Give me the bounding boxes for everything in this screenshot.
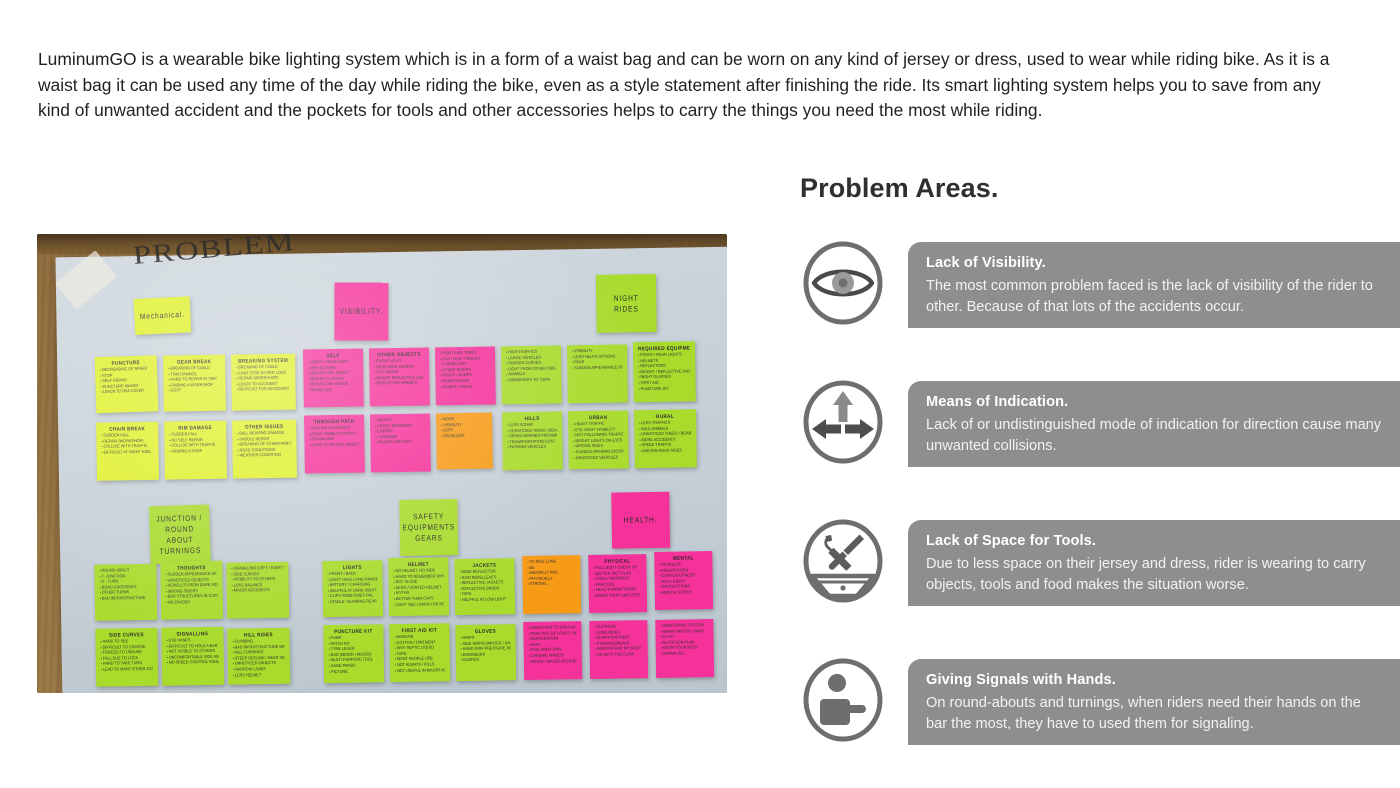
problem-card: Means of Indication. Lack of or undistin…	[908, 381, 1400, 467]
sticky-note-item: LESS HELMET	[233, 672, 285, 679]
sticky-note: MOREVISIBILITYLESSPROBLEMS	[436, 413, 493, 470]
sticky-note-item: GUARDS	[461, 657, 511, 664]
sticky-note: PHYSICALFULL BODY CHECK UPBETTER DIET PL…	[588, 554, 647, 613]
problem-card-title: Giving Signals with Hands.	[926, 672, 1382, 688]
sticky-note-title: JUNCTION /ROUND ABOUTTURNINGS	[154, 513, 205, 558]
sticky-note-item: PROBLEMS	[441, 433, 487, 440]
sticky-note: GEAR BREAKBREAKING OF CABLETHIN DAMAGEHA…	[163, 355, 226, 412]
sticky-note: TO RIDE LONGBEMENTALLY ANDPHYSICALLYSTRO…	[522, 555, 581, 614]
sticky-note-item: REFLECTIVE WHEELS	[374, 381, 424, 388]
sticky-note-item: MINOR / MAJOR ACCIDENTS	[529, 658, 577, 665]
sticky-note: URBANHEAVY TRAFFICEYE SIGHT VISIBILITYNO…	[568, 410, 629, 469]
sticky-note: HILLSLESS SCRAPSCRATCHED SIGNS / BOARDSS…	[502, 411, 563, 470]
sticky-note: KNOW HOW TO UNLOADPRACTICE OF LOADS / WE…	[523, 621, 582, 680]
affinity-wall-photo: Mechanical.VISIBILITY.NIGHT RIDESJUNCTIO…	[37, 234, 727, 693]
sticky-note-header: THROUGH PATH	[309, 418, 359, 425]
sticky-note: VISIBILITYLESS HELPS OPTIONSFEARSUDDEN A…	[567, 344, 628, 403]
sticky-note: SIDE CURVESHARD TO SEEDIFFICULT TO CHOOS…	[95, 628, 158, 687]
problem-item-tools: Lack of Space for Tools. Due to less spa…	[800, 516, 1400, 612]
sticky-note-header: GLOVES	[460, 628, 510, 635]
sticky-note-header: SELF	[308, 352, 358, 359]
sticky-note-header: GEAR BREAK	[168, 358, 220, 365]
sticky-note-item: FALLING WITHOUT	[375, 440, 425, 447]
sticky-note: THROUGH PATHSUDDEN ACCIDENTSROAD VISIBIL…	[304, 415, 365, 474]
sticky-note-header: SIDE CURVES	[100, 631, 152, 638]
sticky-note: MONITORING SYSTEMSMART WATCH / BANDEX KI…	[655, 619, 714, 678]
sticky-note: LIGHTSFRONT / BACKDON'T HAVE LONG RANGEB…	[322, 560, 383, 617]
masking-tape	[55, 250, 117, 309]
sticky-note-header: LIGHTS	[327, 564, 377, 571]
sticky-note-item: NOT USEFUL IN MAJOR ACCIDENT	[395, 668, 445, 675]
sticky-note-header: OTHER ISSUES	[237, 423, 291, 430]
problem-card: Lack of Space for Tools. Due to less spa…	[908, 520, 1400, 606]
sticky-note-header: PHYSICAL	[593, 558, 641, 565]
sticky-note: HIGH TRAFFICSLARGE VEHICLESSUDDEN CURVES…	[501, 345, 562, 404]
problem-item-hand-signals: Giving Signals with Hands. On round-abou…	[800, 655, 1400, 751]
sticky-note-header: HILL RIDES	[232, 631, 284, 638]
sticky-note-item: PICTURE	[329, 669, 379, 676]
sticky-note-header: BREAKING SYSTEM	[236, 357, 290, 364]
sticky-note-item: NO DIVIDER	[166, 600, 218, 607]
sticky-note-item: COST	[169, 388, 221, 395]
sticky-note: SELFFRONT / REAR LIGHTREFLECTORSREFLECTI…	[303, 349, 364, 408]
sticky-note: SIGNALLINGUSE HANDSDIFFICULT TO HOLD A B…	[161, 627, 224, 686]
sticky-note-item: STRONG...	[528, 581, 576, 588]
sticky-note-item: GO WITH THE FLOW	[595, 652, 643, 659]
sticky-note: HELMETNO HELMET, NO RIDEHARD TO REMEMBER…	[388, 557, 449, 616]
sticky-note-item: LEADS TO RIM COVER	[101, 388, 153, 396]
sticky-note-item: FINDING A SHOP	[170, 448, 222, 455]
sticky-note: FIRST AID KITBANDAIDCOTTON / OINTMENTANT…	[389, 623, 450, 682]
sticky-note-header: OTHER OBJECTS	[374, 351, 424, 358]
intro-paragraph: LuminumGO is a wearable bike lighting sy…	[38, 47, 1348, 124]
sticky-note-item: UNNOTICED VEHICLES	[574, 455, 624, 462]
sticky-note: PUNCTUREDECREASING OF SPEEDSTOPSELF REPA…	[95, 355, 159, 413]
sticky-note-header: REQUIRED EQUIPMENTS	[638, 345, 690, 352]
sticky-note-item: NO SPEED CONTROL SIGNALLING	[167, 660, 219, 667]
sticky-note-title: NIGHT RIDES	[601, 293, 651, 315]
problem-card-body: Lack of or undistinguished mode of indic…	[926, 415, 1382, 457]
sticky-note-item: MAJOR ACCIDENTS	[232, 588, 284, 595]
sticky-note-header: FIRST AID KIT	[394, 627, 444, 634]
sticky-note: Mechanical.	[134, 296, 192, 335]
sticky-note-item: HELPFUL AT LOW LIGHT	[460, 597, 510, 604]
sticky-note-item: HARD TO NOTICE OBJECTS	[309, 442, 359, 449]
sticky-note-header: HILLS	[507, 415, 557, 422]
sticky-note-item: UNEVEN ROAD SIDES	[640, 448, 692, 455]
problem-card-title: Lack of Space for Tools.	[926, 533, 1382, 549]
sticky-note: BREAKING SYSTEMBREAKING OF CABLECANT STO…	[231, 354, 296, 411]
sticky-note-item: MENTAL STATES	[660, 590, 708, 597]
sticky-note-item: WEATHER CONDITION	[238, 453, 292, 460]
sticky-note: NIGHTSFOGGY MORNINGSENERGYTURNINGSFALLIN…	[370, 413, 431, 472]
sticky-note: THOUGHTSSUDDEN APPEARANCE OF VEHICLEUNNO…	[160, 561, 223, 620]
sticky-note: SIGNALLING (LEFT / RIGHT)SIDE CURVESVISI…	[226, 562, 289, 619]
eye-icon	[800, 238, 886, 328]
sticky-note: NIGHT RIDES	[596, 274, 657, 333]
sticky-note-item: REPAIR GO..	[661, 651, 709, 658]
sticky-note-header: URBAN	[573, 414, 623, 421]
sticky-note: JUNCTION /ROUND ABOUTTURNINGS	[149, 504, 211, 564]
sticky-note: CLOTHINGLONG RIDESDISAPPOINTMENTSTAMINA …	[589, 620, 648, 679]
problem-item-indication: Means of Indication. Lack of or undistin…	[800, 377, 1400, 473]
sticky-note-item: BAD INFRASTRUCTURE	[100, 596, 152, 603]
four-way-arrows-icon	[800, 377, 886, 467]
sticky-note: CHAIN BREAKSUDDEN FALLREPAIR (WORKSHOP)C…	[96, 422, 159, 481]
sticky-note-header: JACKETS	[459, 562, 509, 569]
sticky-note-item: CAN'T SEE / DARK FOR ROAD	[394, 602, 444, 609]
sticky-note-item: PASSING VEHICLES	[508, 445, 558, 452]
tools-pouch-icon	[800, 516, 886, 606]
chart-paper: Mechanical.VISIBILITY.NIGHT RIDESJUNCTIO…	[55, 247, 727, 693]
sticky-note: ROAD SIDE TREESCAR / BUS / TRUCKS2 WHEEL…	[435, 346, 496, 405]
problem-card-body: Due to less space on their jersey and dr…	[926, 554, 1382, 596]
page-title: Problem Areas.	[800, 173, 998, 204]
sticky-note-header: MENTAL	[659, 555, 707, 562]
sticky-note-item: SPARE LED	[309, 387, 359, 394]
sticky-note: HEALTH.	[611, 492, 670, 549]
slide-page: LuminumGO is a wearable bike lighting sy…	[0, 0, 1400, 788]
problem-card: Giving Signals with Hands. On round-abou…	[908, 659, 1400, 745]
sticky-note-header: THOUGHTS	[165, 564, 217, 571]
sticky-note-header: CHAIN BREAK	[101, 425, 153, 432]
sticky-note: MENTALSICKNESSFRUSTRATIONCONSCIOUSNESSRU…	[654, 551, 713, 610]
problem-card-title: Lack of Visibility.	[926, 255, 1382, 271]
sticky-note-title: SAFETYEQUIPMENTSGEARS	[402, 511, 455, 544]
sticky-note: SAFETYEQUIPMENTSGEARS	[399, 499, 458, 556]
problem-item-visibility: Lack of Visibility. The most common prob…	[800, 238, 1400, 334]
sticky-note-header: SIGNALLING	[166, 630, 218, 637]
sticky-note: JACKETSWIND REFLECTORRAIN REPELLENTSREFL…	[454, 558, 515, 615]
sticky-note: GLOVESGRIPSSIDE GRIPS (WINTER / RAIN)HAN…	[455, 624, 516, 681]
sticky-note-item: OBSERVERS TO TURN	[506, 377, 556, 384]
sticky-note-item: KNOW YOUR LIMIT (5'9")	[594, 593, 642, 600]
sticky-note: OTHER ISSUESBALL BEARING DAMAGESADDLE HE…	[232, 420, 297, 479]
sticky-note-item: LEAD TO MANY OTHER ACCIDENTS	[101, 667, 153, 674]
sticky-note: RURALLESS TRAFFICSWILD ANIMALSUNNOTICED …	[634, 409, 697, 468]
sticky-note-item: PUNCTURE KIT	[639, 386, 691, 393]
sticky-note: HILL RIDESCLIMBINGBAD INFRASTRUCTURE BRE…	[227, 628, 290, 685]
sticky-note-item: HUMPS / HOLES	[441, 384, 491, 391]
sticky-note: OTHER OBJECTSFRONT LIGHTREAR VIEW MIRROR…	[369, 347, 430, 406]
sticky-note-header: RURAL	[639, 413, 691, 420]
sticky-note: RIM DAMAGESUDDEN FALLNO SELF REPAIRCOLLI…	[164, 421, 227, 480]
sticky-note-title: VISIBILITY.	[340, 307, 384, 318]
sticky-note: ROUND ABOUTT- JUNCTIONU - TURNROAD CROSS…	[94, 564, 157, 621]
sticky-note-title: HEALTH.	[624, 515, 658, 526]
sticky-note-item: STABLE / BLINKING REAR LIGHT	[328, 599, 378, 606]
problem-card-title: Means of Indication.	[926, 394, 1382, 410]
sticky-note-header: RIM DAMAGE	[169, 424, 221, 431]
sticky-note-item: DIFFICULT AT NIGHT RIDE	[102, 449, 154, 456]
sticky-note-title: Mechanical.	[140, 310, 186, 323]
sticky-note-header: HELMET	[393, 561, 443, 568]
sticky-note: PUNCTURE KITPUMPPATCH KITTYRE LEVERBAG (…	[323, 624, 384, 683]
problem-card: Lack of Visibility. The most common prob…	[908, 242, 1400, 328]
problem-card-body: The most common problem faced is the lac…	[926, 276, 1382, 318]
problem-card-body: On round-abouts and turnings, when rider…	[926, 693, 1382, 735]
sticky-note: VISIBILITY.	[334, 282, 388, 340]
sticky-note-header: PUNCTURE KIT	[328, 628, 378, 635]
sticky-note-item: SUDDEN APPEARANCE OF UNNOTICED OBJECTS	[572, 365, 622, 372]
person-signaling-icon	[800, 655, 886, 745]
sticky-note-item: DIFFICULT FOR DESCENDS	[237, 387, 291, 394]
sticky-note: REQUIRED EQUIPMENTSFRONT / REAR LIGHTSHE…	[633, 341, 696, 402]
